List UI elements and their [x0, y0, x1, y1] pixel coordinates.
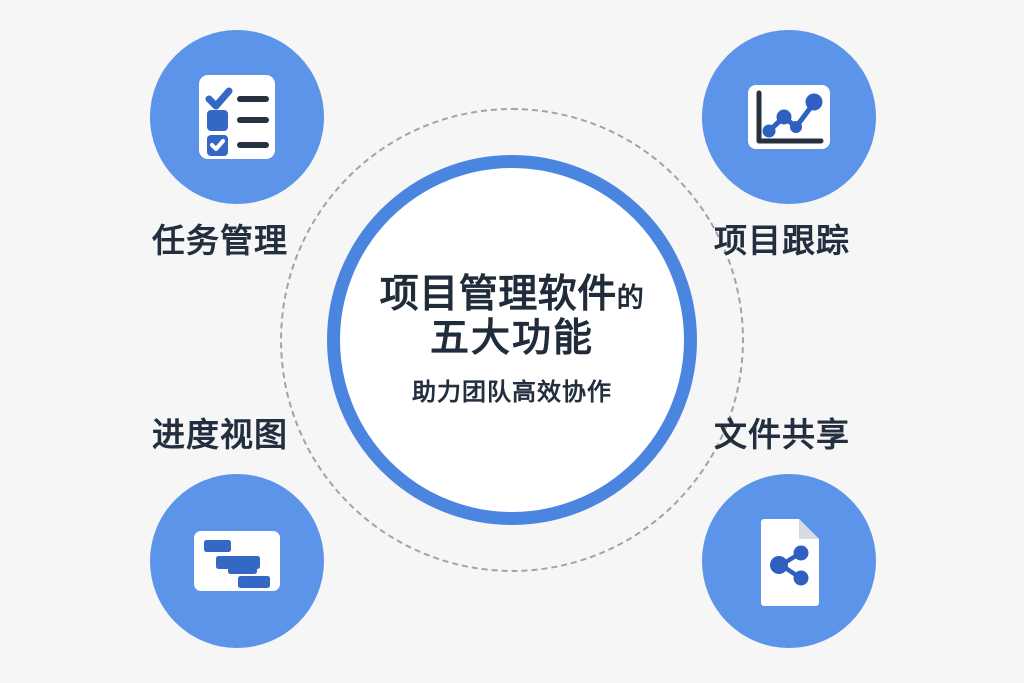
- hub-subtitle: 助力团队高效协作: [412, 372, 612, 407]
- feature-node-task-management[interactable]: [150, 30, 324, 204]
- feature-node-project-tracking[interactable]: [702, 30, 876, 204]
- feature-label-progress-view: 进度视图: [152, 408, 288, 456]
- gantt-chart-icon: [185, 509, 289, 613]
- line-chart-icon: [737, 65, 841, 169]
- hub-title-line1: 项目管理软件的: [380, 273, 645, 317]
- hub-title-main: 项目管理软件: [380, 273, 617, 316]
- hub-title-suffix: 的: [617, 283, 645, 313]
- file-share-icon: [737, 509, 841, 613]
- checklist-icon: [185, 65, 289, 169]
- feature-label-file-sharing: 文件共享: [714, 408, 850, 456]
- hub-title-line2: 五大功能: [430, 316, 594, 363]
- infographic-canvas: 任务管理 项目跟踪: [0, 0, 1024, 683]
- center-hub: 项目管理软件的 五大功能 助力团队高效协作: [327, 155, 697, 525]
- feature-node-file-sharing[interactable]: [702, 474, 876, 648]
- feature-label-task-management: 任务管理: [152, 214, 288, 262]
- feature-node-progress-view[interactable]: [150, 474, 324, 648]
- feature-label-project-tracking: 项目跟踪: [714, 214, 850, 262]
